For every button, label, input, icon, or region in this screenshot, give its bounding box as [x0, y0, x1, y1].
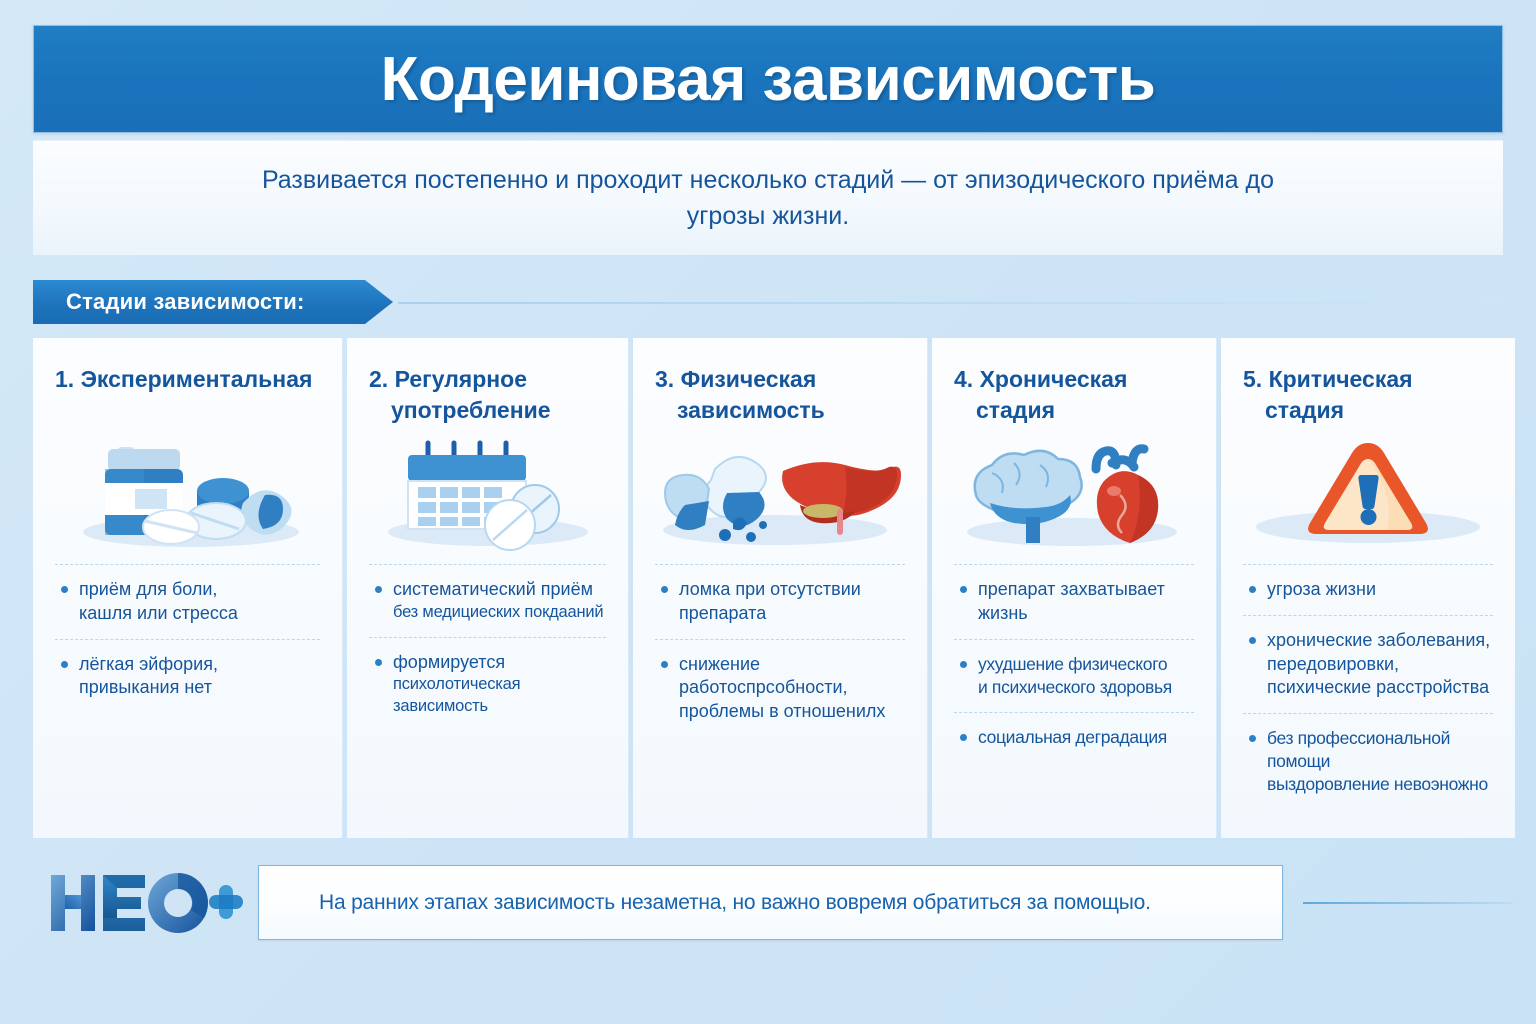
footer: На ранних этапах зависимость незаметна, …	[33, 855, 1503, 955]
stage-card-4[interactable]: 4. Хроническая стадия	[932, 338, 1217, 838]
neo-plus-logo	[45, 869, 245, 939]
list-item: социальная деградация	[954, 712, 1194, 762]
list-item: препарат захватывает жизнь	[954, 564, 1194, 639]
bullet-line: кашля или стресса	[79, 602, 320, 626]
stage-card-1[interactable]: 1. Экспериментальная	[33, 338, 343, 838]
stage-card-2[interactable]: 2. Регулярное употребление	[347, 338, 629, 838]
bullet-line: снижение	[679, 653, 905, 677]
list-item: угроза жизни	[1243, 564, 1493, 615]
bullet-line: систематический приём	[393, 578, 606, 602]
list-item: без профессиональной помощи выздоровлени…	[1243, 713, 1493, 809]
stage-card-5-title-line1: 5. Критическая	[1243, 366, 1413, 392]
calendar-pills-icon	[369, 432, 606, 552]
section-banner-rule	[398, 302, 1503, 304]
list-item: приём для боли, кашля или стресса	[55, 564, 320, 639]
list-item: систематический приём без медициеских по…	[369, 564, 606, 637]
stage-card-3[interactable]: 3. Физическая зависимость	[633, 338, 928, 838]
header-bar: Кодеиновая зависимость	[33, 25, 1503, 133]
footer-rule	[1303, 902, 1513, 904]
bullet-line: формируется	[393, 651, 606, 675]
bullet-line: препарат захватывает	[978, 578, 1194, 602]
bullet-line: жизнь	[978, 602, 1194, 626]
list-item: ухудшение физического и психического здо…	[954, 639, 1194, 712]
stage-card-5-bullets: угроза жизни хронические заболевания, пе…	[1243, 564, 1493, 809]
warning-triangle-icon	[1243, 432, 1493, 552]
subtitle-text: Развивается постепенно и проходит нескол…	[253, 162, 1283, 235]
section-banner-chevron: Стадии зависимости:	[33, 280, 393, 324]
bullet-line: без медициеских покдааний	[393, 602, 606, 624]
bullet-line: проблемы в отношенилх	[679, 700, 905, 724]
bullet-line: без профессиональной помощи	[1267, 727, 1493, 773]
list-item: лёгкая эйфория, привыкания нет	[55, 639, 320, 714]
stage-card-3-title-line1: 3. Физическая	[655, 366, 816, 392]
stage-card-1-title: 1. Экспериментальная	[55, 364, 320, 426]
stage-card-2-title-line1: 2. Регулярное	[369, 366, 527, 392]
stage-card-4-bullets: препарат захватывает жизнь ухудшение физ…	[954, 564, 1194, 762]
list-item: хронические заболевания, передовировки, …	[1243, 615, 1493, 713]
stage-card-1-bullets: приём для боли, кашля или стресса лёгкая…	[55, 564, 320, 713]
footer-note-text: На ранних этапах зависимость незаметна, …	[259, 891, 1151, 915]
bullet-line: передовировки,	[1267, 653, 1493, 677]
bullet-line: препарата	[679, 602, 905, 626]
footer-note: На ранних этапах зависимость незаметна, …	[258, 865, 1283, 940]
pill-bottle-icon	[55, 432, 320, 552]
bullet-line: психические расстройства	[1267, 676, 1493, 700]
bullet-line: лёгкая эйфория,	[79, 653, 320, 677]
stage-card-3-title-line2: зависимость	[655, 395, 825, 426]
bullet-line: приём для боли,	[79, 578, 320, 602]
stage-card-4-title: 4. Хроническая стадия	[954, 364, 1194, 426]
brain-heart-icon	[954, 432, 1194, 552]
capsule-liver-icon	[655, 432, 905, 552]
stage-card-2-bullets: систематический приём без медициеских по…	[369, 564, 606, 731]
bullet-line: хронические заболевания,	[1267, 629, 1493, 653]
stage-card-5[interactable]: 5. Критическая стадия угроза жизни	[1221, 338, 1515, 838]
stage-card-4-title-line1: 4. Хроническая	[954, 366, 1127, 392]
stage-card-3-title: 3. Физическая зависимость	[655, 364, 905, 426]
stage-card-5-title-line2: стадия	[1243, 395, 1344, 426]
page-title: Кодеиновая зависимость	[381, 44, 1156, 115]
list-item: ломка при отсутствии препарата	[655, 564, 905, 639]
stage-card-1-title-line1: 1. Экспериментальная	[55, 366, 312, 392]
bullet-line: привыкания нет	[79, 676, 320, 700]
bullet-line: ухудшение физического	[978, 653, 1194, 676]
bullet-line: работоспрсобности,	[679, 676, 905, 700]
stage-card-4-title-line2: стадия	[954, 395, 1055, 426]
list-item: снижение работоспрсобности, проблемы в о…	[655, 639, 905, 737]
stage-card-3-bullets: ломка при отсутствии препарата снижение …	[655, 564, 905, 737]
infographic-page: Кодеиновая зависимость Развивается посте…	[0, 0, 1536, 1024]
bullet-line: психолотическая зависимость	[393, 674, 606, 718]
section-banner: Стадии зависимости:	[33, 280, 1503, 324]
bullet-line: социальная деградация	[978, 726, 1194, 749]
stage-card-2-title: 2. Регулярное употребление	[369, 364, 606, 426]
bullet-line: выздоровление невоэножно	[1267, 773, 1493, 796]
bullet-line: и психического здоровья	[978, 676, 1194, 699]
list-item: формируется психолотическая зависимость	[369, 637, 606, 731]
bullet-line: угроза жизни	[1267, 578, 1493, 602]
stage-card-5-title: 5. Критическая стадия	[1243, 364, 1493, 426]
subtitle-panel: Развивается постепенно и проходит нескол…	[33, 140, 1503, 255]
bullet-line: ломка при отсутствии	[679, 578, 905, 602]
stage-card-2-title-line2: употребление	[369, 395, 551, 426]
stage-cards: 1. Экспериментальная	[33, 338, 1503, 838]
section-banner-label: Стадии зависимости:	[66, 289, 305, 315]
